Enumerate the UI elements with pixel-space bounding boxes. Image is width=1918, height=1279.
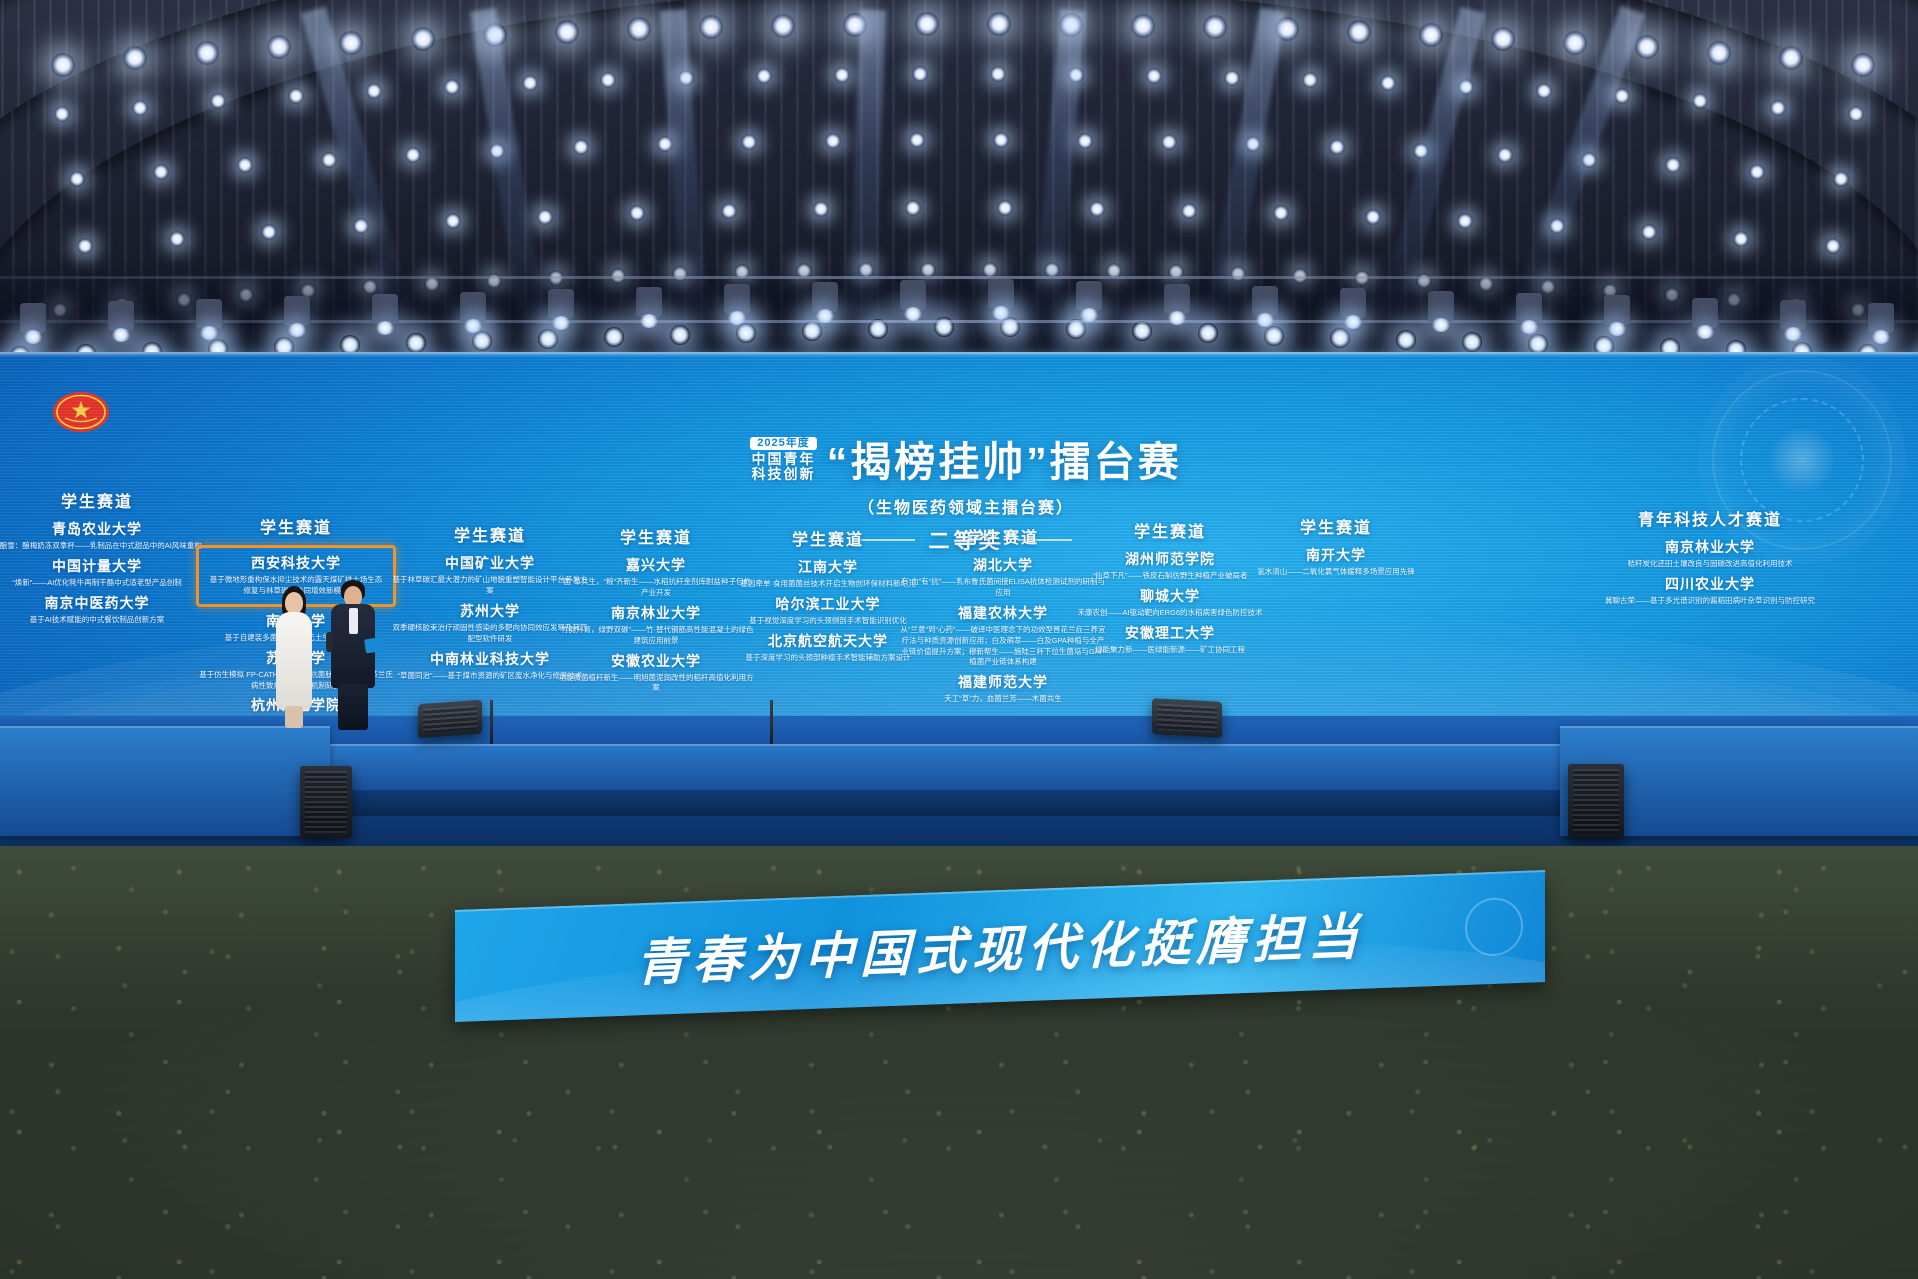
lighting-truss bbox=[0, 258, 1918, 366]
ceiling-light bbox=[1273, 205, 1289, 221]
winner-entry: 中国计量大学“焕新”——AI优化牦牛再制干酪中式适老型产品创制 bbox=[0, 556, 202, 589]
ceiling-light bbox=[1848, 106, 1864, 122]
ceiling-light bbox=[1457, 213, 1473, 229]
university-name: 四川农业大学 bbox=[1560, 574, 1860, 594]
winner-entry: 南京林业大学秸秆炭化还田土壤改良与固碳改进高值化利用技术 bbox=[1560, 537, 1860, 570]
ceiling-light bbox=[721, 203, 737, 219]
winner-entry: 安徽农业大学功能微菌植秆新生——明旭菌泥润改性的稻杆高值化利用方案 bbox=[558, 651, 754, 695]
ceiling-light bbox=[537, 209, 553, 225]
ceiling-light bbox=[411, 27, 435, 51]
moving-head-light bbox=[460, 292, 486, 322]
stage-monitor-right bbox=[1152, 698, 1222, 738]
ceiling-light bbox=[1329, 139, 1345, 155]
ceiling-light bbox=[132, 100, 148, 116]
ceiling-light bbox=[1131, 14, 1155, 38]
ceiling-light bbox=[366, 83, 382, 99]
stage-monitor-left bbox=[418, 700, 482, 738]
female-host-dress bbox=[276, 612, 312, 710]
winner-entry: 四川农业大学冀聊古荣——基于多光谱识别的酱稻田病叶杂草识别与防控研究 bbox=[1560, 574, 1860, 607]
ceiling-light bbox=[1665, 157, 1681, 173]
ceiling-light bbox=[288, 88, 304, 104]
winner-column: 学生赛道青岛农业大学梅酿雪：酿梅奶冻双拿杯——乳制品在中式甜品中的AI风味重构中… bbox=[0, 488, 202, 630]
winner-entry: 福建师范大学夭工“草”力，血菌兰芳——木菌共生 bbox=[900, 672, 1106, 705]
male-host-shirt bbox=[349, 608, 358, 634]
ceiling-light bbox=[69, 171, 85, 187]
ceiling-light bbox=[1692, 93, 1708, 109]
ceiling-light bbox=[444, 79, 460, 95]
ceiling-light bbox=[123, 46, 147, 70]
ceiling-light bbox=[1497, 147, 1513, 163]
ceiling-light bbox=[1347, 20, 1371, 44]
stage-scene: 2025年度 中国青年 科技创新 “揭榜挂帅”擂台赛 （生物医药领域主擂台赛） … bbox=[0, 0, 1918, 1279]
project-title: “菌”草共生，“粮”齐新生——水稻抗秆金剂库耐盐种子包的产业开发 bbox=[558, 577, 754, 599]
winner-column: 学生赛道嘉兴大学“菌”草共生，“粮”齐新生——水稻抗秆金剂库耐盐种子包的产业开发… bbox=[558, 524, 754, 698]
ceiling-light bbox=[993, 132, 1009, 148]
ceiling-light bbox=[1161, 134, 1177, 150]
winner-entry: 南开大学氢水清山——二氧化氯气体缓释多场景应用先锋 bbox=[1238, 545, 1434, 578]
project-title: 基因牵单·食用菌菌丝技术开启生物创环保材料新纪元 bbox=[730, 579, 926, 590]
ceiling-light bbox=[1851, 53, 1875, 77]
ceiling-light bbox=[600, 72, 616, 88]
microphone[interactable] bbox=[326, 632, 333, 652]
track-title: 学生赛道 bbox=[558, 524, 754, 548]
project-title: 基于AI技术赋能的中式餐饮制品创新方案 bbox=[0, 615, 202, 626]
ceiling-light bbox=[912, 66, 928, 82]
project-title: 绿能聚力新——医绿能新源——矿工协同工程 bbox=[1070, 645, 1270, 656]
ceiling-light bbox=[990, 66, 1006, 82]
university-name: 青岛农业大学 bbox=[0, 519, 202, 539]
university-name: 北京航空航天大学 bbox=[730, 631, 926, 651]
spot-light bbox=[472, 331, 492, 351]
moving-head-light bbox=[1868, 303, 1894, 333]
university-name: 聊城大学 bbox=[1070, 586, 1270, 606]
ceiling-light bbox=[169, 231, 185, 247]
spot-light bbox=[1066, 319, 1086, 339]
ceiling-light bbox=[1146, 68, 1162, 84]
host-cards bbox=[364, 637, 386, 654]
project-title: “竹韵升育，绿野双碳”——竹·替代钢筋高性能混凝土的绿色建筑应用前景 bbox=[558, 625, 754, 647]
spot-light bbox=[1462, 332, 1482, 352]
university-name: 中国计量大学 bbox=[0, 556, 202, 576]
university-name: 嘉兴大学 bbox=[558, 555, 754, 575]
track-title: 青年科技人才赛道 bbox=[1560, 506, 1860, 530]
spot-light bbox=[406, 333, 426, 353]
ceiling-light bbox=[1635, 35, 1659, 59]
track-title: 学生赛道 bbox=[1238, 514, 1434, 538]
winner-entry: 嘉兴大学“菌”草共生，“粮”齐新生——水稻抗秆金剂库耐盐种子包的产业开发 bbox=[558, 555, 754, 599]
winner-entry: 南京林业大学“竹韵升育，绿野双碳”——竹·替代钢筋高性能混凝土的绿色建筑应用前景 bbox=[558, 603, 754, 647]
ceiling-light bbox=[1089, 201, 1105, 217]
ceiling-light bbox=[405, 147, 421, 163]
moving-head-light bbox=[20, 303, 46, 333]
spot-light bbox=[1396, 330, 1416, 350]
mic-stand-left bbox=[490, 700, 493, 744]
university-name: 南京中医药大学 bbox=[0, 593, 202, 613]
stage-riser-left bbox=[0, 726, 330, 836]
ceiling-light bbox=[1380, 75, 1396, 91]
university-name: 安徽理工大学 bbox=[1070, 623, 1270, 643]
ceiling-light bbox=[210, 93, 226, 109]
moving-head-light bbox=[724, 284, 750, 314]
spot-light bbox=[736, 323, 756, 343]
ceiling-light bbox=[445, 213, 461, 229]
spot-light bbox=[604, 327, 624, 347]
moving-head-light bbox=[988, 279, 1014, 309]
project-title: 功能微菌植秆新生——明旭菌泥润改性的稻杆高值化利用方案 bbox=[558, 673, 754, 695]
ceiling-light bbox=[267, 35, 291, 59]
project-title: 秸秆炭化还田土壤改良与固碳改进高值化利用技术 bbox=[1560, 559, 1860, 570]
ceiling-light bbox=[153, 164, 169, 180]
year-label: 2025年度 bbox=[750, 437, 816, 451]
university-name: 南开大学 bbox=[1238, 545, 1434, 565]
moving-head-light bbox=[1692, 298, 1718, 328]
ceiling-light bbox=[825, 133, 841, 149]
speaker-stack-right bbox=[1568, 764, 1624, 838]
ceiling-light bbox=[1419, 23, 1443, 47]
ceiling-light bbox=[629, 205, 645, 221]
project-title: 基于深度学习的头颈部肿瘤手术智能辅助方案设计 bbox=[730, 653, 926, 664]
ceiling-light bbox=[1733, 231, 1749, 247]
moving-head-light bbox=[636, 287, 662, 317]
moving-head-light bbox=[1604, 295, 1630, 325]
ceiling-light bbox=[915, 12, 939, 36]
university-name: 江南大学 bbox=[730, 557, 926, 577]
moving-head-light bbox=[812, 282, 838, 312]
winner-entry: 江南大学基因牵单·食用菌菌丝技术开启生物创环保材料新纪元 bbox=[730, 557, 926, 590]
ceiling-light bbox=[1536, 83, 1552, 99]
moving-head-light bbox=[284, 296, 310, 326]
ceiling-light bbox=[1203, 15, 1227, 39]
ceiling-light bbox=[339, 31, 363, 55]
moving-head-light bbox=[1340, 288, 1366, 318]
project-title: 梅酿雪：酿梅奶冻双拿杯——乳制品在中式甜品中的AI风味重构 bbox=[0, 541, 202, 552]
university-name: 南京林业大学 bbox=[1560, 537, 1860, 557]
ceiling-light bbox=[771, 14, 795, 38]
spot-light bbox=[802, 321, 822, 341]
moving-head-light bbox=[1780, 300, 1806, 330]
university-name: 南京林业大学 bbox=[558, 603, 754, 623]
ceiling-light bbox=[1770, 100, 1786, 116]
ceiling-light bbox=[699, 15, 723, 39]
moving-head-light bbox=[108, 301, 134, 331]
ceiling-light bbox=[813, 201, 829, 217]
ceiling-light bbox=[195, 41, 219, 65]
spot-light bbox=[1264, 326, 1284, 346]
track-title: 学生赛道 bbox=[196, 514, 396, 538]
ceiling-light bbox=[741, 134, 757, 150]
org-line-1: 中国青年 bbox=[750, 452, 816, 467]
ceiling-light bbox=[522, 75, 538, 91]
project-title: 氢水清山——二氧化氯气体缓释多场景应用先锋 bbox=[1238, 567, 1434, 578]
ceiling-light bbox=[1302, 72, 1318, 88]
moving-head-light bbox=[1076, 281, 1102, 311]
track-title: 学生赛道 bbox=[0, 488, 202, 512]
ceiling-light bbox=[237, 157, 253, 173]
ceiling-light bbox=[1181, 203, 1197, 219]
ceiling-light bbox=[1224, 70, 1240, 86]
university-name: 福建师范大学 bbox=[900, 672, 1106, 692]
university-name: 安徽农业大学 bbox=[558, 651, 754, 671]
ceiling-light bbox=[997, 200, 1013, 216]
ceiling-light bbox=[261, 224, 277, 240]
ceiling-light bbox=[627, 17, 651, 41]
spot-light bbox=[1528, 334, 1548, 354]
moving-head-light bbox=[1252, 286, 1278, 316]
project-title: “焕新”——AI优化牦牛再制干酪中式适老型产品创制 bbox=[0, 578, 202, 589]
male-host-trousers bbox=[338, 684, 368, 730]
track-title: 学生赛道 bbox=[730, 526, 926, 550]
ceiling-light bbox=[51, 53, 75, 77]
female-host bbox=[268, 586, 324, 728]
spot-light bbox=[1000, 317, 1020, 337]
project-title: 基于视觉深度学习的头颈侧剖手术智能识别优化 bbox=[730, 616, 926, 627]
winner-entry: 北京航空航天大学基于深度学习的头颈部肿瘤手术智能辅助方案设计 bbox=[730, 631, 926, 664]
ceiling-light bbox=[1365, 209, 1381, 225]
moving-head-light bbox=[548, 289, 574, 319]
winner-entry: 青岛农业大学梅酿雪：酿梅奶冻双拿杯——乳制品在中式甜品中的AI风味重构 bbox=[0, 519, 202, 552]
winner-column: 学生赛道江南大学基因牵单·食用菌菌丝技术开启生物创环保材料新纪元哈尔滨工业大学基… bbox=[730, 526, 926, 668]
moving-head-light bbox=[196, 299, 222, 329]
female-host-legs bbox=[285, 706, 303, 728]
winner-column: 青年科技人才赛道南京林业大学秸秆炭化还田土壤改良与固碳改进高值化利用技术四川农业… bbox=[1560, 506, 1860, 611]
moving-head-light bbox=[1428, 291, 1454, 321]
winner-column: 学生赛道南开大学氢水清山——二氧化氯气体缓释多场景应用先锋 bbox=[1238, 514, 1434, 582]
winner-entry: 聊城大学禾康农创——AI驱动靶向ERG6的水稻病害绿色防控技术 bbox=[1070, 586, 1270, 619]
ceiling-light bbox=[1563, 31, 1587, 55]
ceiling-light bbox=[1825, 238, 1841, 254]
spot-light bbox=[1132, 321, 1152, 341]
male-host bbox=[325, 580, 387, 730]
year-organization-badge: 2025年度 中国青年 科技创新 bbox=[750, 434, 816, 483]
ceiling-light bbox=[1749, 164, 1765, 180]
spot-light bbox=[934, 317, 954, 337]
ceiling-light bbox=[321, 152, 337, 168]
ceiling-light bbox=[77, 238, 93, 254]
university-name: 西安科技大学 bbox=[207, 553, 385, 573]
ceiling-light bbox=[756, 68, 772, 84]
mic-stand-right bbox=[770, 700, 773, 744]
project-title: 夭工“草”力，血菌兰芳——木菌共生 bbox=[900, 694, 1106, 705]
spot-light bbox=[1330, 328, 1350, 348]
ceiling-light bbox=[1833, 171, 1849, 187]
ceiling-light bbox=[909, 132, 925, 148]
communist-youth-league-emblem bbox=[52, 388, 110, 436]
university-name: 哈尔滨工业大学 bbox=[730, 594, 926, 614]
project-title: 冀聊古荣——基于多光谱识别的酱稻田病叶杂草识别与防控研究 bbox=[1560, 596, 1860, 607]
winner-entry: 哈尔滨工业大学基于视觉深度学习的头颈侧剖手术智能识别优化 bbox=[730, 594, 926, 627]
ceiling-light bbox=[573, 139, 589, 155]
ceiling-light bbox=[1077, 133, 1093, 149]
ceiling-light bbox=[1779, 46, 1803, 70]
ceiling-light bbox=[834, 67, 850, 83]
ceiling-light bbox=[1641, 224, 1657, 240]
female-host-head bbox=[285, 592, 303, 614]
ceiling-light bbox=[555, 20, 579, 44]
speaker-stack-left bbox=[300, 766, 352, 838]
winner-entry: 安徽理工大学绿能聚力新——医绿能新源——矿工协同工程 bbox=[1070, 623, 1270, 656]
project-title: 禾康农创——AI驱动靶向ERG6的水稻病害绿色防控技术 bbox=[1070, 608, 1270, 619]
winner-entry: 南京中医药大学基于AI技术赋能的中式餐饮制品创新方案 bbox=[0, 593, 202, 626]
moving-head-light bbox=[1164, 284, 1190, 314]
ceiling-light bbox=[1707, 41, 1731, 65]
moving-head-light bbox=[900, 280, 926, 310]
ceiling-light bbox=[54, 106, 70, 122]
ceiling-light bbox=[1491, 27, 1515, 51]
ceiling-light bbox=[905, 200, 921, 216]
ceiling-light bbox=[987, 12, 1011, 36]
